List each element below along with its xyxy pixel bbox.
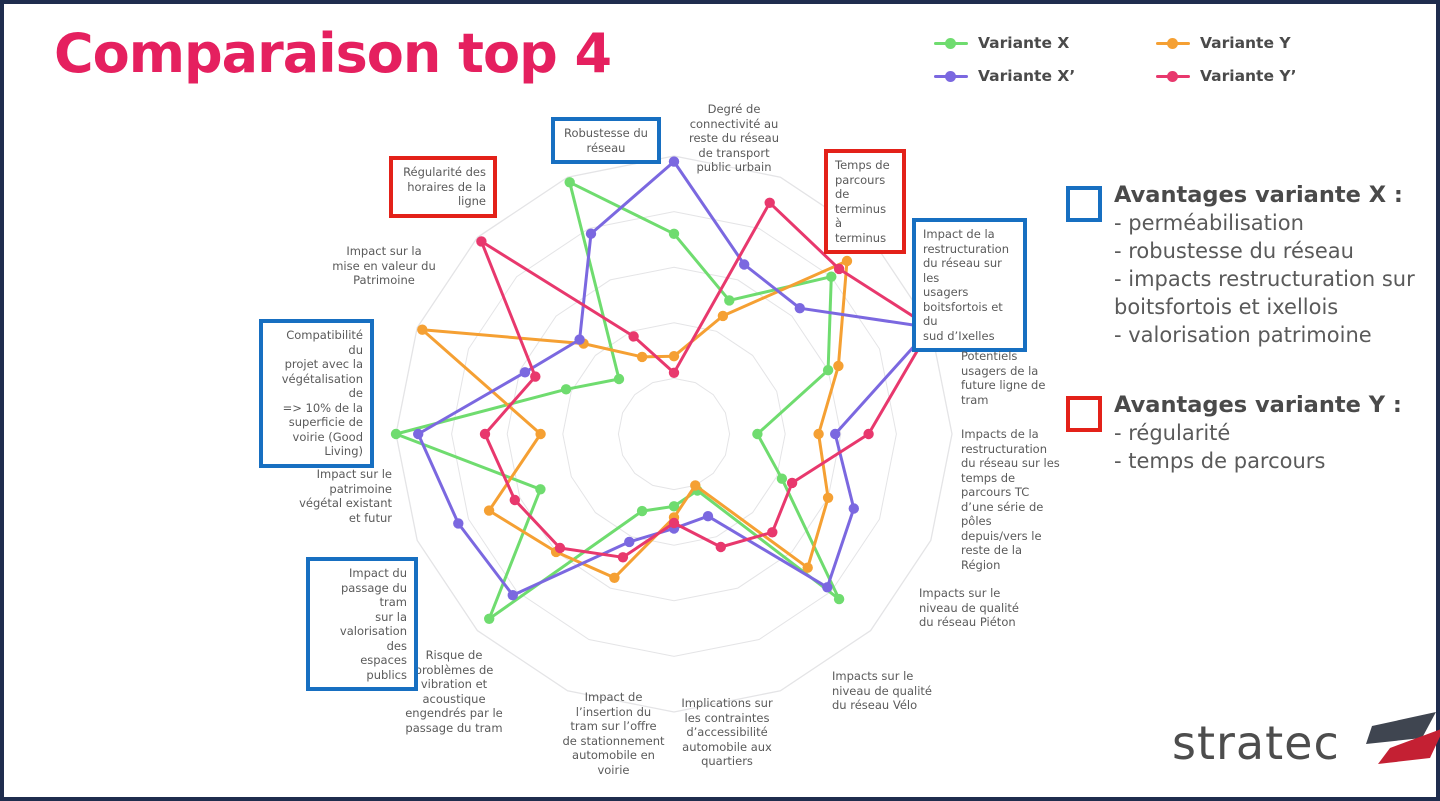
radar-point xyxy=(803,563,813,573)
panel-bullet: - valorisation patrimoine xyxy=(1114,321,1436,349)
radar-point xyxy=(535,429,545,439)
radar-point xyxy=(826,272,836,282)
axis-label-regularite: Régularité des horaires de la ligne xyxy=(389,156,497,218)
chart-legend: Variante XVariante YVariante X’Variante … xyxy=(934,34,1294,96)
radar-point xyxy=(484,614,494,624)
panel-bullet: - perméabilisation xyxy=(1114,209,1436,237)
panel-heading: Avantages variante Y : xyxy=(1114,392,1436,418)
panel-bullet: - robustesse du réseau xyxy=(1114,237,1436,265)
legend-marker-icon xyxy=(934,37,968,49)
legend-label: Variante Y’ xyxy=(1200,67,1297,85)
radar-point xyxy=(822,582,832,592)
stratec-logo: stratec xyxy=(1172,704,1422,774)
radar-point xyxy=(535,484,545,494)
radar-point xyxy=(453,518,463,528)
radar-point xyxy=(833,361,843,371)
radar-point xyxy=(690,480,700,490)
radar-point xyxy=(574,334,584,344)
logo-mark-icon xyxy=(1326,706,1440,766)
radar-point xyxy=(767,527,777,537)
radar-point xyxy=(703,511,713,521)
radar-point xyxy=(849,503,859,513)
radar-point xyxy=(637,352,647,362)
panel-bullet: - impacts restructuration sur xyxy=(1114,265,1436,293)
axis-label-valorisation-espaces: Impact du passage du tram sur la valoris… xyxy=(306,557,418,691)
radar-point xyxy=(561,384,571,394)
logo-wordmark: stratec xyxy=(1172,716,1340,770)
radar-point xyxy=(834,264,844,274)
panel-bullet: - temps de parcours xyxy=(1114,447,1436,475)
page-title: Comparaison top 4 xyxy=(54,22,611,85)
radar-point xyxy=(718,311,728,321)
radar-point xyxy=(777,474,787,484)
radar-point xyxy=(842,256,852,266)
radar-point xyxy=(614,374,624,384)
radar-point xyxy=(609,573,619,583)
radar-point xyxy=(823,365,833,375)
radar-point xyxy=(669,229,679,239)
radar-point xyxy=(637,506,647,516)
advantages-panel-1: Avantages variante X :- perméabilisation… xyxy=(1066,182,1436,349)
radar-point xyxy=(823,493,833,503)
radar-point xyxy=(618,552,628,562)
legend-label: Variante X xyxy=(978,34,1069,52)
radar-point xyxy=(480,429,490,439)
radar-point xyxy=(863,429,873,439)
legend-item-2[interactable]: Variante Y xyxy=(1156,34,1291,52)
axis-label-stationnement: Impact de l’insertion du tram sur l’offr… xyxy=(556,690,671,777)
radar-point xyxy=(830,429,840,439)
axis-label-patrimoine-vegetal: Impact sur le patrimoine végétal existan… xyxy=(292,467,392,525)
radar-point xyxy=(413,429,423,439)
radar-point xyxy=(739,259,749,269)
legend-marker-icon xyxy=(934,70,968,82)
radar-point xyxy=(530,371,540,381)
slide-canvas: Comparaison top 4 Variante XVariante YVa… xyxy=(0,0,1440,801)
legend-item-1[interactable]: Variante X xyxy=(934,34,1069,52)
radar-point xyxy=(724,295,734,305)
radar-point xyxy=(484,505,494,515)
radar-point xyxy=(669,351,679,361)
axis-label-qualite-pieton: Impacts sur le niveau de qualité du rése… xyxy=(919,586,1029,630)
axis-label-temps-parcours: Temps de parcours de terminus à terminus xyxy=(824,149,906,254)
axis-label-potentiels-usagers: Potentiels usagers de la future ligne de… xyxy=(961,349,1061,407)
radar-point xyxy=(765,198,775,208)
radar-point xyxy=(813,429,823,439)
radar-point xyxy=(628,331,638,341)
legend-item-3[interactable]: Variante X’ xyxy=(934,67,1075,85)
panel-marker-square-blue xyxy=(1066,186,1102,222)
panel-heading: Avantages variante X : xyxy=(1114,182,1436,208)
radar-point xyxy=(752,429,762,439)
legend-marker-icon xyxy=(1156,37,1190,49)
axis-label-impact-restructuration-usagers: Impact de la restructuration du réseau s… xyxy=(912,218,1027,352)
radar-point xyxy=(391,429,401,439)
panel-bullet: boitsfortois et ixellois xyxy=(1114,293,1436,321)
radar-point xyxy=(669,518,679,528)
radar-point xyxy=(834,594,844,604)
radar-point xyxy=(555,543,565,553)
radar-point xyxy=(787,478,797,488)
radar-point xyxy=(510,495,520,505)
radar-point xyxy=(795,303,805,313)
radar-point xyxy=(417,325,427,335)
radar-point xyxy=(565,177,575,187)
axis-label-connectivite: Degré de connectivité au reste du réseau… xyxy=(674,102,794,175)
legend-item-4[interactable]: Variante Y’ xyxy=(1156,67,1297,85)
axis-label-mise-en-valeur-patrimoine: Impact sur la mise en valeur du Patrimoi… xyxy=(329,244,439,288)
axis-label-good-living: Compatibilité du projet avec la végétali… xyxy=(259,319,374,468)
radar-point xyxy=(586,229,596,239)
radar-point xyxy=(520,367,530,377)
axis-label-qualite-velo: Impacts sur le niveau de qualité du rése… xyxy=(832,669,942,713)
radar-point xyxy=(476,236,486,246)
advantages-panel-2: Avantages variante Y :- régularité- temp… xyxy=(1066,392,1436,475)
panel-marker-square-red xyxy=(1066,396,1102,432)
radar-point xyxy=(669,368,679,378)
axis-label-robustesse: Robustesse du réseau xyxy=(551,117,661,164)
axis-label-accessibilite-quartiers: Implications sur les contraintes d’acces… xyxy=(672,696,782,769)
radar-point xyxy=(624,537,634,547)
radar-series-2 xyxy=(417,256,852,583)
legend-marker-icon xyxy=(1156,70,1190,82)
panel-bullet: - régularité xyxy=(1114,419,1436,447)
legend-label: Variante X’ xyxy=(978,67,1075,85)
legend-label: Variante Y xyxy=(1200,34,1291,52)
radar-point xyxy=(716,542,726,552)
radar-point xyxy=(508,590,518,600)
axis-label-impacts-temps-parcours-tc: Impacts de la restructuration du réseau … xyxy=(961,427,1063,572)
